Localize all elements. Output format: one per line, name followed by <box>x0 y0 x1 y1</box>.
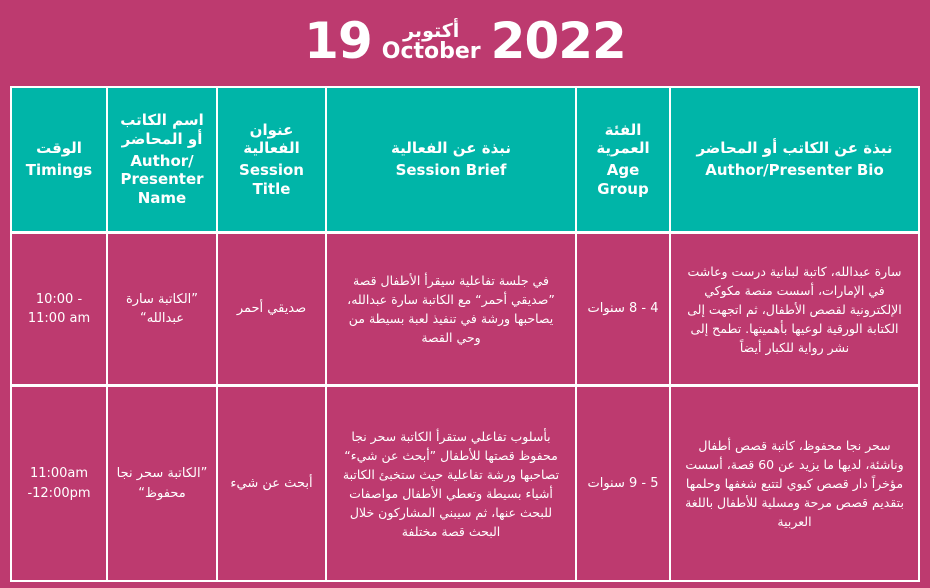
cell-session-title: صديقي أحمر <box>216 234 325 384</box>
cell-session-brief-text: بأسلوب تفاعلي ستقرأ الكاتبة سحر نجا محفو… <box>335 427 567 541</box>
date-day: 19 <box>304 16 372 66</box>
cell-author-bio: سحر نجا محفوظ، كاتبة قصص أطفال وناشئة، ل… <box>669 387 918 580</box>
column-header-age-group: الفئة العمرية Age Group <box>575 88 669 231</box>
cell-session-brief: بأسلوب تفاعلي ستقرأ الكاتبة سحر نجا محفو… <box>325 387 575 580</box>
cell-age-group-text: 4 - 8 سنوات <box>587 299 658 319</box>
column-header-presenter-name: اسم الكاتب أو المحاضر Author/ Presenter … <box>106 88 216 231</box>
table-header-row: نبذة عن الكاتب أو المحاضر Author/Present… <box>12 88 918 234</box>
cell-presenter-name-text: ”الكاتبة سحر نجا محفوظ“ <box>116 464 208 503</box>
column-header-author-bio: نبذة عن الكاتب أو المحاضر Author/Present… <box>669 88 918 231</box>
column-header-session-title-en: Session Title <box>226 161 317 199</box>
date-year: 2022 <box>491 16 626 66</box>
cell-timings-text: 11:00am -12:00pm <box>20 464 98 503</box>
table-row: سحر نجا محفوظ، كاتبة قصص أطفال وناشئة، ل… <box>12 384 918 580</box>
cell-timings: 10:00 - 11:00 am <box>12 234 106 384</box>
column-header-timings: الوقت Timings <box>12 88 106 231</box>
column-header-timings-ar: الوقت <box>36 139 82 158</box>
column-header-session-brief-en: Session Brief <box>396 161 507 180</box>
schedule-table: نبذة عن الكاتب أو المحاضر Author/Present… <box>10 86 920 582</box>
table-row: سارة عبدالله، كاتبة لبنانية درست وعاشت ف… <box>12 234 918 384</box>
cell-author-bio-text: سحر نجا محفوظ، كاتبة قصص أطفال وناشئة، ل… <box>679 436 910 531</box>
cell-author-bio-text: سارة عبدالله، كاتبة لبنانية درست وعاشت ف… <box>679 262 910 357</box>
cell-age-group: 4 - 8 سنوات <box>575 234 669 384</box>
cell-age-group-text: 5 - 9 سنوات <box>587 474 658 494</box>
column-header-session-brief-ar: نبذة عن الفعالية <box>391 139 511 158</box>
cell-timings: 11:00am -12:00pm <box>12 387 106 580</box>
cell-presenter-name: ”الكاتبة سارة عبدالله“ <box>106 234 216 384</box>
cell-age-group: 5 - 9 سنوات <box>575 387 669 580</box>
date-month: أكتوبر October <box>382 18 481 64</box>
date-banner: 19 أكتوبر October 2022 <box>0 0 930 86</box>
date-month-english: October <box>382 41 481 63</box>
cell-session-title-text: صديقي أحمر <box>237 299 306 319</box>
cell-presenter-name-text: ”الكاتبة سارة عبدالله“ <box>116 290 208 329</box>
column-header-author-bio-ar: نبذة عن الكاتب أو المحاضر <box>696 139 892 158</box>
column-header-presenter-name-en: Author/ Presenter Name <box>116 152 208 208</box>
column-header-age-group-en: Age Group <box>585 161 661 199</box>
column-header-presenter-name-ar: اسم الكاتب أو المحاضر <box>116 111 208 149</box>
column-header-session-title: عنوان الفعالية Session Title <box>216 88 325 231</box>
cell-session-title-text: أبحث عن شيء <box>230 474 312 494</box>
column-header-session-brief: نبذة عن الفعالية Session Brief <box>325 88 575 231</box>
cell-session-brief-text: في جلسة تفاعلية سيقرأ الأطفال قصة ”صديقي… <box>335 271 567 347</box>
cell-presenter-name: ”الكاتبة سحر نجا محفوظ“ <box>106 387 216 580</box>
cell-timings-text: 10:00 - 11:00 am <box>20 290 98 329</box>
column-header-author-bio-en: Author/Presenter Bio <box>705 161 884 180</box>
column-header-session-title-ar: عنوان الفعالية <box>226 121 317 159</box>
column-header-age-group-ar: الفئة العمرية <box>585 121 661 159</box>
cell-author-bio: سارة عبدالله، كاتبة لبنانية درست وعاشت ف… <box>669 234 918 384</box>
cell-session-title: أبحث عن شيء <box>216 387 325 580</box>
column-header-timings-en: Timings <box>26 161 93 180</box>
cell-session-brief: في جلسة تفاعلية سيقرأ الأطفال قصة ”صديقي… <box>325 234 575 384</box>
schedule-page: 19 أكتوبر October 2022 نبذة عن الكاتب أو… <box>0 0 930 588</box>
